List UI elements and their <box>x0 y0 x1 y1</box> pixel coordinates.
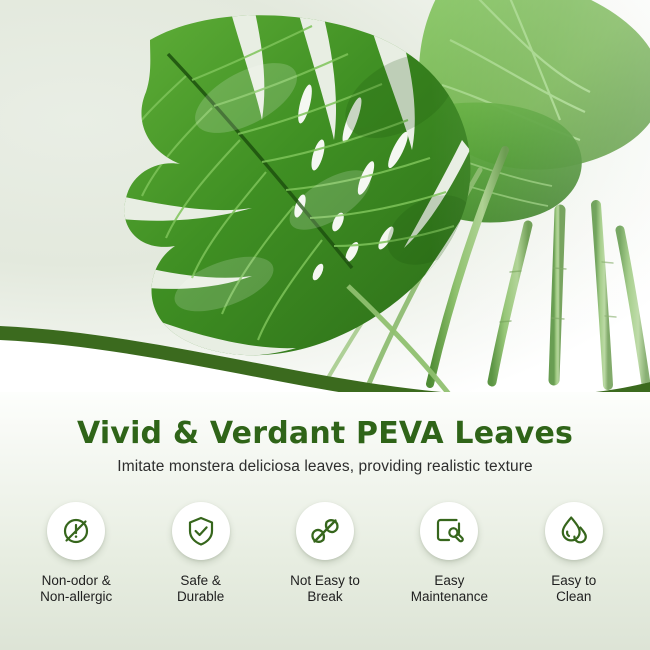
screen-wrench-icon <box>432 514 466 548</box>
feature-item-non-odor: Non-odor & Non-allergic <box>20 502 132 606</box>
water-drops-icon <box>557 514 591 548</box>
feature-item-safe-durable: Safe & Durable <box>145 502 257 606</box>
broken-link-icon <box>308 514 342 548</box>
feature-item-easy-maintenance: Easy Maintenance <box>393 502 505 606</box>
feature-item-not-easy-to-break: Not Easy to Break <box>269 502 381 606</box>
page-title: Vivid & Verdant PEVA Leaves <box>0 416 650 451</box>
plant-illustration <box>0 0 650 400</box>
feature-item-easy-to-clean: Easy to Clean <box>518 502 630 606</box>
feature-icon-bubble <box>420 502 478 560</box>
feature-label: Not Easy to Break <box>290 573 360 606</box>
product-feature-banner: Vivid & Verdant PEVA Leaves Imitate mons… <box>0 0 650 650</box>
shield-check-icon <box>184 514 218 548</box>
feature-list: Non-odor & Non-allergic Safe & Durable <box>0 502 650 606</box>
info-panel: Vivid & Verdant PEVA Leaves Imitate mons… <box>0 392 650 650</box>
feature-icon-bubble <box>296 502 354 560</box>
feature-label: Non-odor & Non-allergic <box>40 573 112 606</box>
feature-icon-bubble <box>545 502 603 560</box>
feature-icon-bubble <box>172 502 230 560</box>
page-subtitle: Imitate monstera deliciosa leaves, provi… <box>0 458 650 476</box>
feature-label: Safe & Durable <box>177 573 224 606</box>
feature-icon-bubble <box>47 502 105 560</box>
no-odor-icon <box>59 514 93 548</box>
feature-label: Easy Maintenance <box>411 573 488 606</box>
feature-label: Easy to Clean <box>551 573 596 606</box>
hero-photo <box>0 0 650 400</box>
